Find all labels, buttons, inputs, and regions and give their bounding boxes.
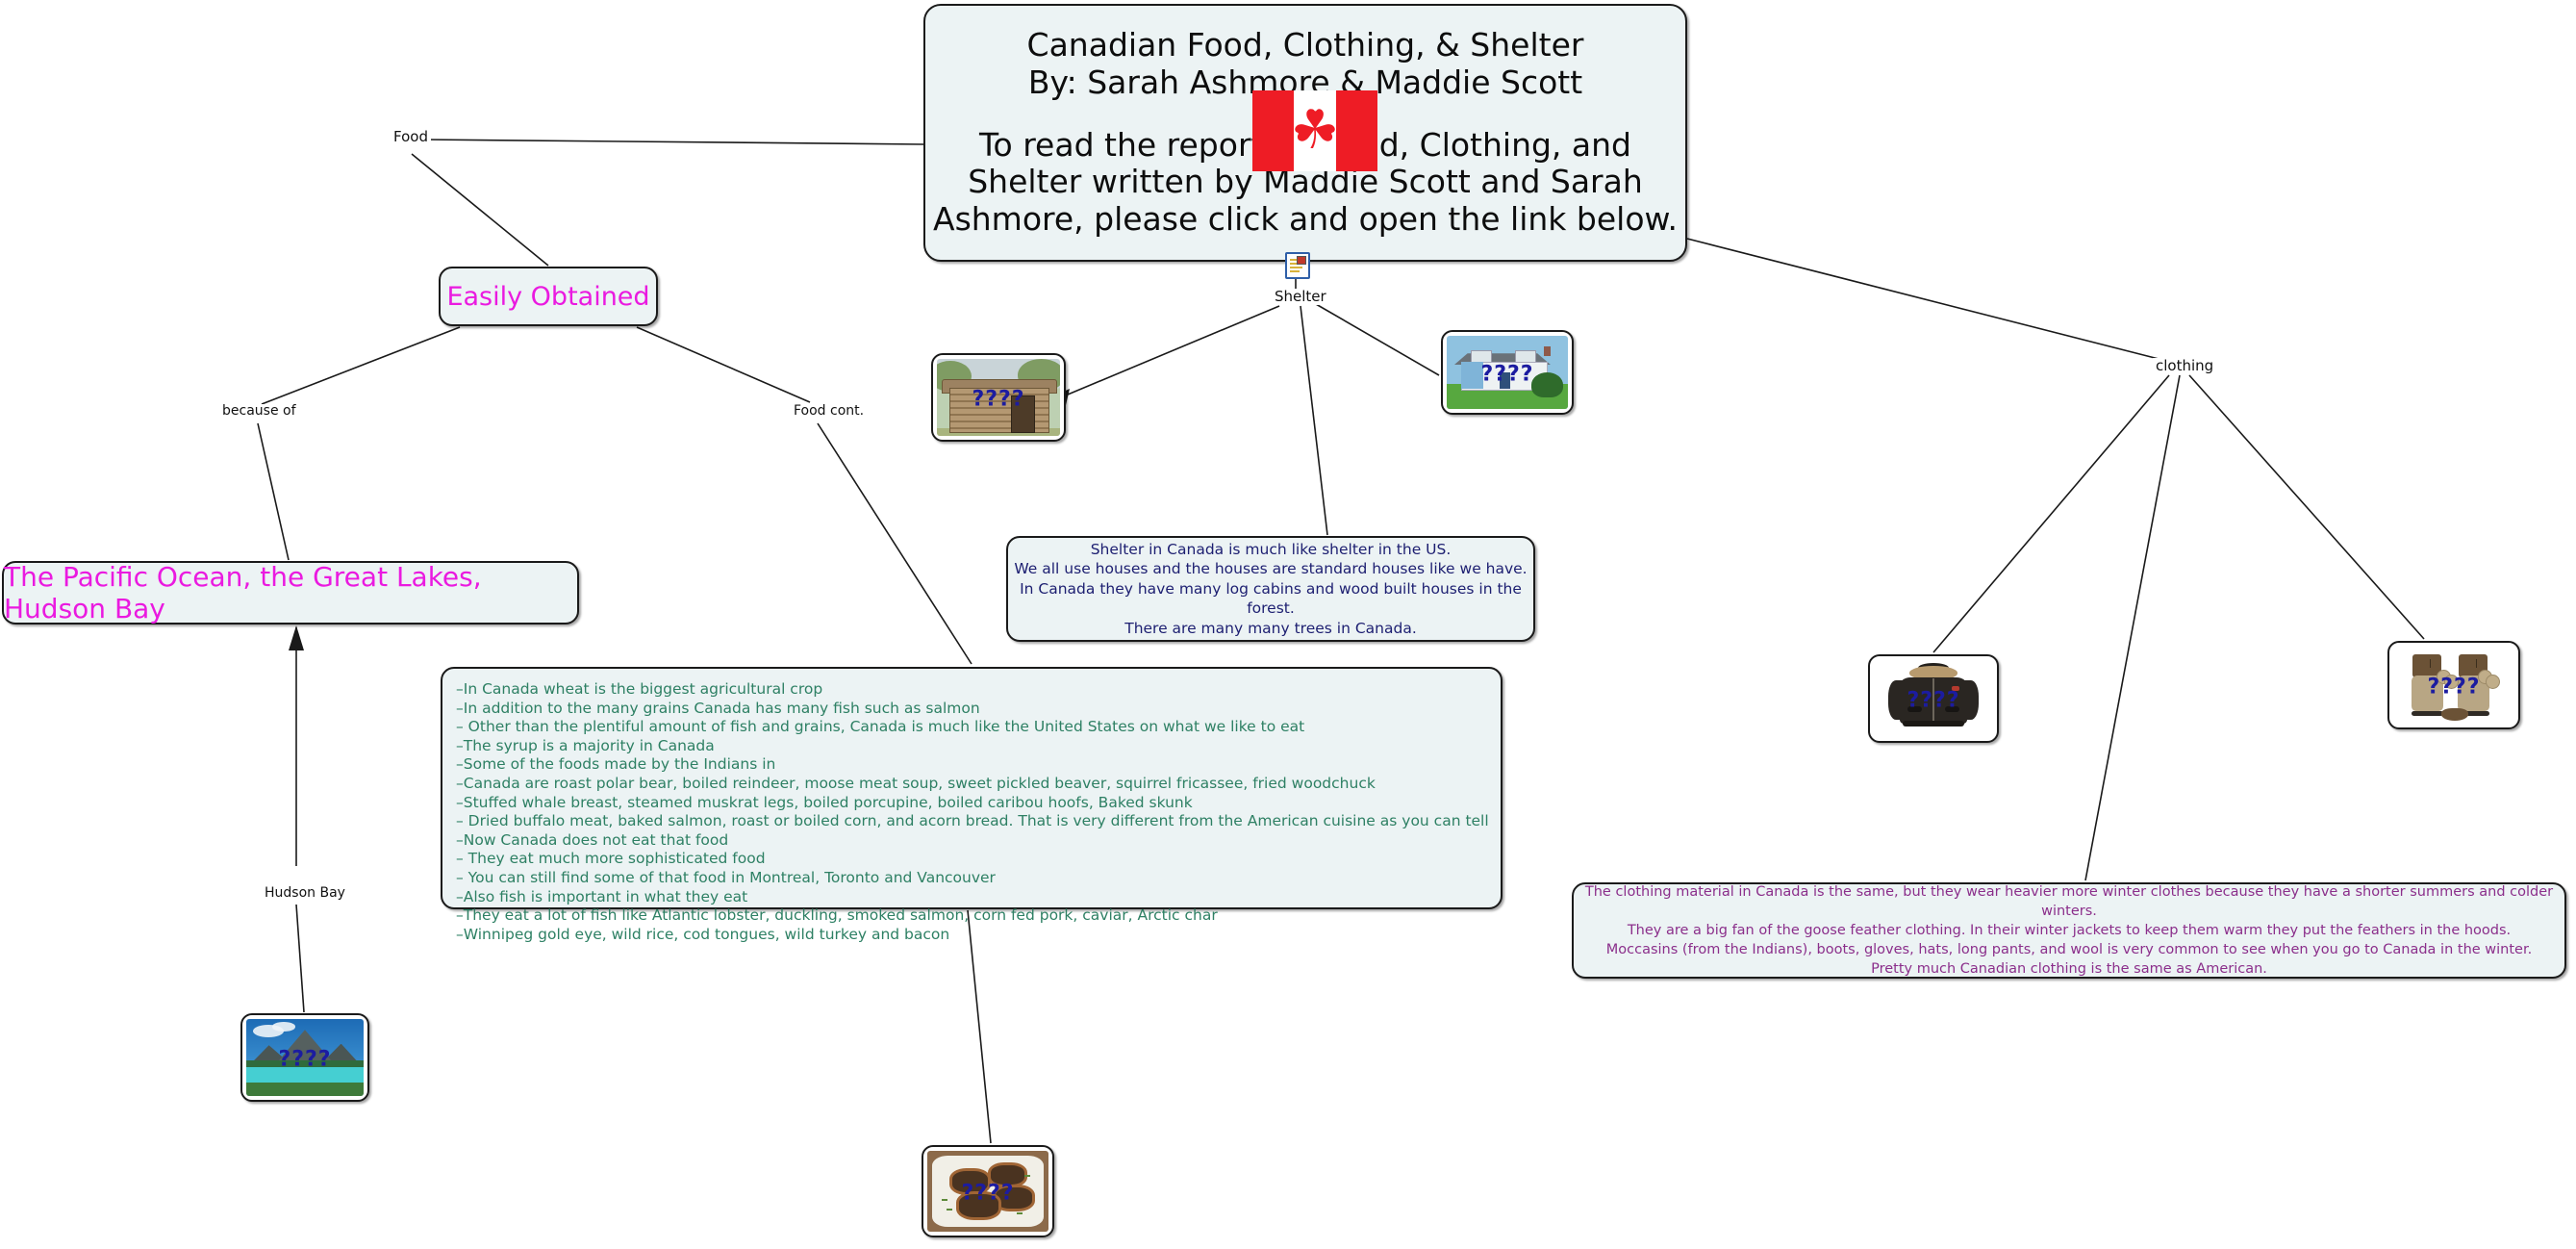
parka-overlay-text: ????: [1907, 688, 1959, 712]
herb-garnish: [942, 1199, 947, 1201]
clothing-line: Moccasins (from the Indians), boots, glo…: [1574, 940, 2564, 959]
edge-label-because-of: because of: [219, 404, 299, 419]
food-item: – Dried buffalo meat, baked salmon, roas…: [456, 812, 1487, 831]
foreground-foliage: [246, 1083, 364, 1096]
suburban-house-photo[interactable]: ????: [1441, 330, 1574, 415]
maple-leaf-icon: ☘: [1294, 92, 1336, 169]
boot-moccasin: [2441, 708, 2468, 721]
food-item: –Some of the foods made by the Indians i…: [456, 755, 1487, 775]
house-blue-siding: [1461, 362, 1483, 388]
canadian-food-plate-photo[interactable]: ????: [922, 1145, 1054, 1237]
boots-overlay-text: ????: [2427, 675, 2480, 699]
clothing-line: Pretty much Canadian clothing is the sam…: [1574, 959, 2564, 979]
plate-overlay-text: ????: [961, 1181, 1014, 1205]
mukluk-boots-image: ????: [2393, 647, 2514, 724]
cloud: [272, 1022, 295, 1032]
shelter-line: Shelter in Canada is much like shelter i…: [1008, 540, 1533, 559]
mountain-lake-photo[interactable]: ????: [240, 1013, 369, 1102]
mountain-lake-image: ????: [246, 1019, 364, 1096]
node-shelter-text[interactable]: Shelter in Canada is much like shelter i…: [1006, 536, 1535, 642]
food-item: –The syrup is a majority in Canada: [456, 737, 1487, 756]
doc-thumbnail: [1297, 256, 1306, 265]
boot-pompom: [2486, 675, 2500, 689]
house-chimney: [1544, 346, 1552, 357]
food-item: –In Canada wheat is the biggest agricult…: [456, 680, 1487, 700]
clothing-line: They are a big fan of the goose feather …: [1574, 921, 2564, 940]
mountain-overlay-text: ????: [278, 1047, 331, 1071]
winter-parka-image: ????: [1874, 660, 1993, 737]
clothing-paragraph: The clothing material in Canada is the s…: [1574, 882, 2564, 979]
document-link-icon[interactable]: [1285, 252, 1310, 279]
house-dormer: [1471, 350, 1492, 363]
edge-label-food: Food: [391, 129, 431, 145]
food-item: –Now Canada does not eat that food: [456, 831, 1487, 851]
food-item: –Canada are roast polar bear, boiled rei…: [456, 775, 1487, 794]
food-item: –Also fish is important in what they eat: [456, 888, 1487, 907]
edge-label-shelter: Shelter: [1272, 289, 1329, 305]
parka-hem: [1903, 721, 1964, 726]
house-dormer: [1515, 350, 1536, 363]
boot-lace: [2476, 659, 2477, 668]
shelter-paragraph: Shelter in Canada is much like shelter i…: [1008, 540, 1533, 638]
herb-garnish: [947, 1209, 952, 1211]
node-clothing-text[interactable]: The clothing material in Canada is the s…: [1572, 882, 2566, 979]
boot-lace: [2430, 659, 2431, 668]
canadian-flag-icon: ☘: [1252, 90, 1377, 171]
herb-garnish: [1017, 1212, 1023, 1214]
food-item: –They eat a lot of fish like Atlantic lo…: [456, 906, 1487, 926]
edge-label-food-cont: Food cont.: [791, 404, 867, 419]
house-overlay-text: ????: [1480, 362, 1533, 386]
doc-line-3: [1290, 267, 1302, 268]
flag-right-band: [1336, 90, 1377, 171]
edge-label-hudson-bay: Hudson Bay: [262, 886, 348, 901]
node-easily-obtained[interactable]: Easily Obtained: [439, 267, 658, 326]
log-cabin-image: ????: [937, 359, 1060, 436]
suburban-house-image: ????: [1447, 336, 1568, 409]
food-item: –Stuffed whale breast, steamed muskrat l…: [456, 794, 1487, 813]
shelter-line: There are many many trees in Canada.: [1008, 619, 1533, 638]
shelter-line: In Canada they have many log cabins and …: [1008, 579, 1533, 619]
shelter-line: We all use houses and the houses are sta…: [1008, 559, 1533, 578]
title-heading-line1: Canadian Food, Clothing, & Shelter: [933, 27, 1678, 64]
food-item: –In addition to the many grains Canada h…: [456, 700, 1487, 719]
food-item: – They eat much more sophisticated food: [456, 850, 1487, 869]
log-cabin-photo[interactable]: ????: [931, 353, 1066, 442]
node-food-list[interactable]: –In Canada wheat is the biggest agricult…: [441, 667, 1503, 909]
food-item: – You can still find some of that food i…: [456, 869, 1487, 888]
easily-obtained-label: Easily Obtained: [446, 282, 649, 312]
food-item: –Winnipeg gold eye, wild rice, cod tongu…: [456, 926, 1487, 945]
fur-mukluk-boots-photo[interactable]: ????: [2387, 641, 2520, 729]
food-plate-image: ????: [927, 1151, 1048, 1232]
winter-parka-photo[interactable]: ????: [1868, 654, 1999, 743]
food-item: – Other than the plentiful amount of fis…: [456, 718, 1487, 737]
edge-label-clothing: clothing: [2153, 358, 2216, 374]
node-oceans-lakes[interactable]: The Pacific Ocean, the Great Lakes, Huds…: [2, 561, 579, 624]
mindmap-canvas: Canadian Food, Clothing, & Shelter By: S…: [0, 0, 2576, 1249]
cabin-overlay-text: ????: [972, 387, 1024, 411]
boot-left-sole: [2412, 711, 2443, 716]
clothing-line: The clothing material in Canada is the s…: [1574, 882, 2564, 921]
oceans-label: The Pacific Ocean, the Great Lakes, Huds…: [4, 561, 577, 624]
flag-left-band: [1252, 90, 1294, 171]
herb-garnish: [1024, 1175, 1030, 1177]
title-body-line3: Ashmore, please click and open the link …: [933, 201, 1678, 239]
house-shrub: [1531, 372, 1563, 397]
doc-line-4: [1290, 270, 1300, 272]
